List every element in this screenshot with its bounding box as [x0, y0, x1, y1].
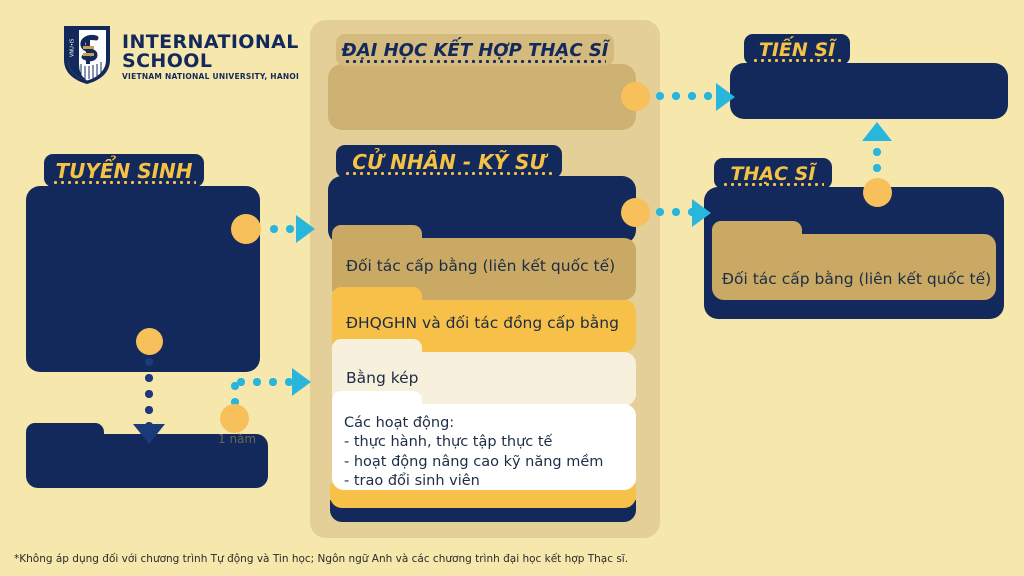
infographic-canvas: VNU•IS INTERNATIONAL SCHOOL VIETNAM NATI…	[0, 0, 1024, 576]
connector-arrow-master-up	[862, 122, 892, 141]
connector-dots-admission-right	[266, 225, 298, 233]
connector-knob-one-year	[220, 404, 249, 433]
doctor-header-underline	[752, 59, 842, 62]
connector-dots-bachelor-right	[652, 208, 694, 216]
master-header-label: THẠC SĨ	[731, 163, 816, 185]
is-shield-logo-icon: VNU•IS	[62, 24, 112, 90]
bachelor-card-2-text: ĐHQGHN và đối tác đồng cấp bằng	[346, 314, 626, 334]
connector-arrow-admission-right	[296, 215, 315, 243]
master-header-underline	[722, 183, 824, 186]
connector-arrow-bachelor-right	[692, 199, 711, 227]
doctor-header-label: TIẾN SĨ	[759, 39, 835, 61]
svg-text:VNU•IS: VNU•IS	[70, 39, 76, 57]
bachelor-card-1-text: Đối tác cấp bằng (liên kết quốc tế)	[346, 257, 626, 277]
connector-knob-master-up	[863, 178, 892, 207]
admission-header-underline	[52, 181, 196, 184]
master-card-1-tab	[712, 221, 802, 237]
bachelor-header-label: CỬ NHÂN - KỸ SƯ	[352, 150, 545, 174]
prep-card-tab	[26, 423, 104, 437]
bachelor-card-3-tab	[332, 339, 422, 355]
doctor-panel	[730, 63, 1008, 119]
combined-header: ĐẠI HỌC KẾT HỢP THẠC SĨ	[336, 34, 614, 66]
master-header: THẠC SĨ	[714, 158, 832, 189]
brand-line-3: VIETNAM NATIONAL UNIVERSITY, HANOI	[122, 73, 299, 81]
connector-dots-prep-down	[145, 354, 153, 424]
combined-header-label: ĐẠI HỌC KẾT HỢP THẠC SĨ	[342, 40, 609, 61]
connector-knob-admission-right	[231, 214, 261, 244]
brand-wordmark: INTERNATIONAL SCHOOL VIETNAM NATIONAL UN…	[122, 33, 299, 81]
bachelor-card-4-tab	[332, 391, 422, 407]
bachelor-card-1-tab	[332, 225, 422, 241]
combined-header-underline	[344, 60, 606, 63]
connector-arrow-prep-down	[133, 424, 165, 444]
connector-knob-combined-right	[621, 82, 650, 111]
bachelor-header: CỬ NHÂN - KỸ SƯ	[336, 145, 562, 178]
connector-dots-one-year-right	[233, 378, 295, 386]
bachelor-card-3-text: Bằng kép	[346, 369, 626, 389]
combined-panel	[328, 64, 636, 130]
brand-logo: VNU•IS INTERNATIONAL SCHOOL VIETNAM NATI…	[62, 24, 299, 90]
master-card-1	[712, 234, 996, 300]
doctor-header: TIẾN SĨ	[744, 34, 850, 65]
duration-label: 1 năm	[218, 432, 256, 446]
connector-arrow-one-year	[292, 368, 311, 396]
admission-header: TUYỂN SINH	[44, 154, 204, 187]
connector-arrow-combined-right	[716, 83, 735, 111]
footnote: *Không áp dụng đối với chương trình Tự đ…	[14, 553, 628, 565]
bachelor-card-4-text: Các hoạt động: - thực hành, thực tập thự…	[344, 414, 634, 491]
connector-dots-master-up	[873, 144, 881, 182]
brand-line-2: SCHOOL	[122, 52, 299, 71]
bachelor-card-2-tab	[332, 287, 422, 303]
master-card-1-text: Đối tác cấp bằng (liên kết quốc tế)	[722, 270, 996, 290]
connector-knob-bachelor-right	[621, 198, 650, 227]
connector-knob-prep-down	[136, 328, 163, 355]
bachelor-header-underline	[344, 172, 554, 175]
connector-dots-combined-right	[652, 92, 718, 100]
admission-header-label: TUYỂN SINH	[55, 159, 192, 183]
